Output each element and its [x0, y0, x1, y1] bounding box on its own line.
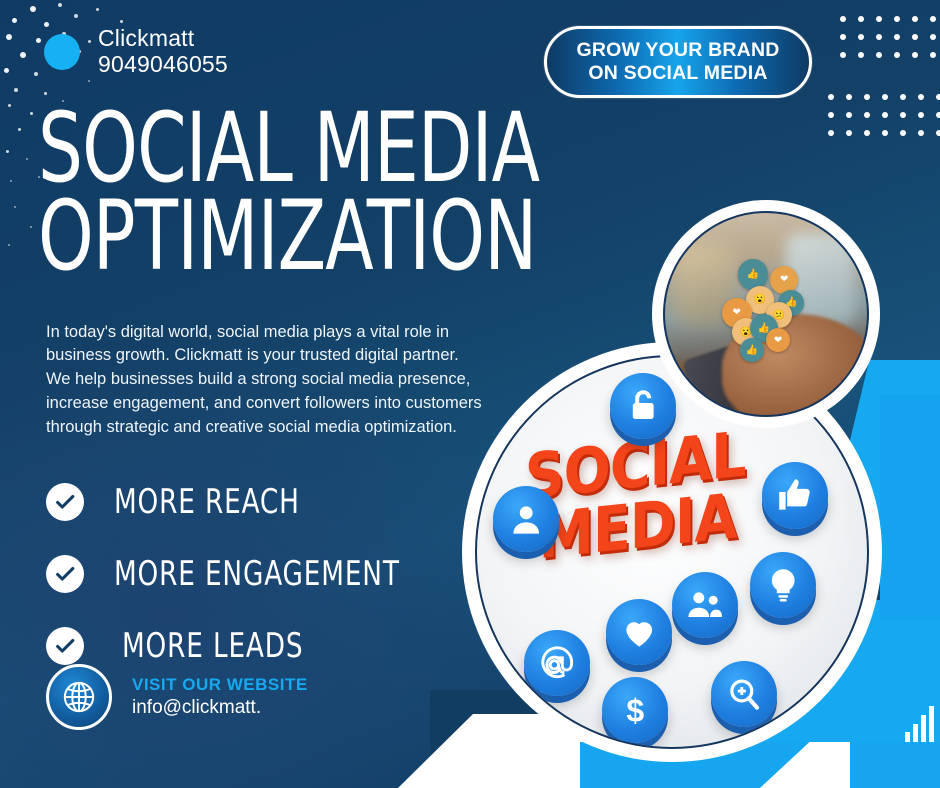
website-title: VISIT OUR WEBSITE [132, 675, 308, 694]
brand-phone: 9049046055 [98, 52, 228, 78]
brand-header: Clickmatt 9049046055 [44, 26, 228, 78]
brand-name: Clickmatt [98, 26, 228, 52]
badge-text: GROW YOUR BRAND ON SOCIAL MEDIA [576, 39, 779, 84]
thumbs-up-reaction: 👍 [738, 259, 768, 289]
circle-dot-logo-icon [44, 34, 80, 70]
headline-line-1: SOCIAL MEDIA [38, 104, 497, 192]
dollar-icon-chip: $ [602, 677, 668, 743]
svg-text:$: $ [626, 692, 644, 728]
dot-grid-top-right-lower [828, 94, 940, 136]
social-media-3d-word: SOCIAL MEDIA [524, 435, 781, 553]
phone-reactions-photo: 👍 ❤ 😮 ❤ 👍 😕 😮 👍 ❤ 👍 [652, 200, 880, 428]
benefits-list: MORE REACH MORE ENGAGEMENT MORE LEADS [46, 466, 496, 682]
list-item: MORE ENGAGEMENT [46, 538, 496, 610]
cyan-bar-right [880, 395, 940, 620]
phone-reactions-photo-inner: 👍 ❤ 😮 ❤ 👍 😕 😮 👍 ❤ 👍 [663, 211, 869, 417]
list-item-label: MORE REACH [114, 482, 300, 522]
grow-your-brand-badge[interactable]: GROW YOUR BRAND ON SOCIAL MEDIA [544, 26, 812, 98]
badge-line-1: GROW YOUR BRAND [576, 39, 779, 61]
check-circle-icon [46, 555, 84, 593]
badge-line-2: ON SOCIAL MEDIA [588, 62, 767, 84]
group-icon-chip [672, 572, 738, 638]
at-sign-icon-chip [524, 630, 590, 696]
list-item: MORE REACH [46, 466, 496, 538]
list-item-label: MORE LEADS [122, 626, 303, 666]
check-circle-icon [46, 627, 84, 665]
globe-icon [46, 664, 112, 730]
search-icon-chip [711, 661, 777, 727]
poster-canvas: Clickmatt 9049046055 GROW YOUR BRAND ON … [0, 0, 940, 788]
body-paragraph: In today's digital world, social media p… [46, 321, 484, 440]
user-icon-chip [493, 486, 559, 552]
lightbulb-icon-chip [750, 552, 816, 618]
heart-icon-chip [606, 599, 672, 665]
website-email: info@clickmatt. [132, 697, 261, 718]
website-contact-block[interactable]: VISIT OUR WEBSITE info@clickmatt. [46, 664, 308, 730]
check-circle-icon [46, 483, 84, 521]
thumbs-up-icon-chip [762, 462, 828, 528]
page-title: SOCIAL MEDIA OPTIMIZATION [38, 104, 497, 281]
dot-grid-top-right-upper [840, 16, 936, 58]
headline-line-2: OPTIMIZATION [38, 192, 497, 280]
list-item-label: MORE ENGAGEMENT [114, 554, 400, 594]
bar-chart-decoration [905, 706, 934, 742]
